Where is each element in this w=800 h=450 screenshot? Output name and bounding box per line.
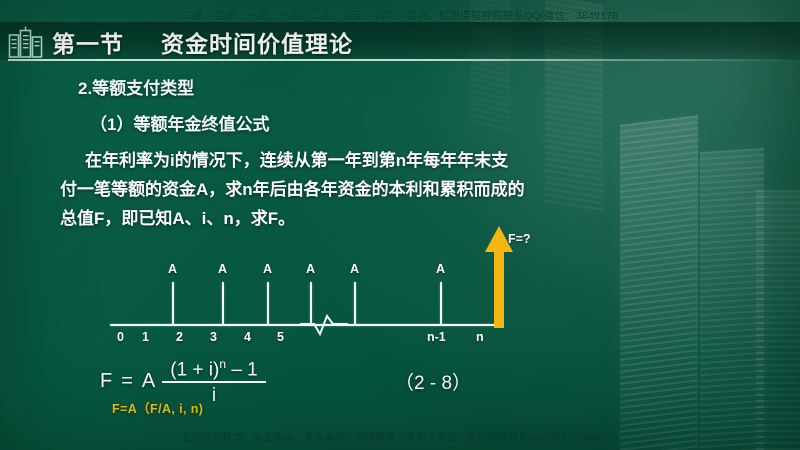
formula-exponent: n <box>219 357 226 371</box>
header-section-label: 第一节 <box>52 31 124 57</box>
payment-tick <box>172 282 174 324</box>
axis-label: 0 <box>117 330 124 344</box>
paragraph-line: 在年利率为i的情况下，连续从第一年到第n年每年年末支 <box>60 146 680 175</box>
axis-label: 4 <box>244 330 251 344</box>
axis-label: n-1 <box>427 330 446 344</box>
content-heading: 2.等额支付类型 <box>78 74 194 99</box>
payment-tick <box>440 282 442 324</box>
payment-label: A <box>263 262 272 276</box>
formula-numerator-tail: – 1 <box>231 359 257 380</box>
axis-label: 5 <box>277 330 284 344</box>
formula-denominator: i <box>212 383 216 405</box>
formula-lhs: F <box>100 370 112 393</box>
axis-label: 3 <box>210 330 217 344</box>
top-watermark: 二建、监理、一建、一造、二造、安全、消防、咨询、检测课程押题联系QQ/微信：38… <box>0 8 800 23</box>
payment-label: A <box>218 262 227 276</box>
axis-label: 1 <box>142 330 149 344</box>
paragraph-line: 总值F，即已知A、i、n，求F。 <box>60 204 680 233</box>
payment-label: A <box>436 262 445 276</box>
future-value-label: F=? <box>508 232 531 246</box>
background-tower <box>700 148 764 450</box>
formula-coefficient: A <box>142 370 155 393</box>
bottom-watermark: 名师面授精华、央企内训、考点串讲、习题模考、考前三页纸、绝密押题联系QQ/微信：… <box>0 429 800 444</box>
content-subheading: （1）等额年金终值公式 <box>90 110 269 135</box>
building-icon <box>8 26 44 58</box>
paragraph-line: 付一笔等额的资金A，求n年后由各年资金的本利和累积而成的 <box>60 175 680 204</box>
formula-numerator: (1 + i)n – 1 <box>162 358 266 381</box>
equation-number: （2 - 8） <box>395 368 471 395</box>
payment-label: A <box>306 262 315 276</box>
payment-tick <box>267 282 269 324</box>
timeline-break-icon <box>300 314 348 336</box>
header-title-text: 资金时间价值理论 <box>161 31 353 57</box>
cash-flow-diagram: A A A A A A 0 1 2 3 4 5 n-1 n F=? <box>110 258 510 344</box>
payment-label: A <box>350 262 359 276</box>
payment-tick <box>354 282 356 324</box>
page-title: 第一节 资金时间价值理论 <box>52 25 353 59</box>
slide-canvas: 二建、监理、一建、一造、二造、安全、消防、咨询、检测课程押题联系QQ/微信：38… <box>0 0 800 450</box>
payment-label: A <box>168 262 177 276</box>
axis-label: 2 <box>176 330 183 344</box>
paragraph-block: 在年利率为i的情况下，连续从第一年到第n年每年年末支 付一笔等额的资金A，求n年… <box>60 146 680 233</box>
background-tower <box>756 190 800 450</box>
formula-equals: = <box>121 370 133 393</box>
formula-numerator-base: (1 + i) <box>170 359 219 380</box>
axis-label: n <box>476 330 484 344</box>
formula-note: F=A（F/A, i, n) <box>112 398 203 417</box>
payment-tick <box>222 282 224 324</box>
